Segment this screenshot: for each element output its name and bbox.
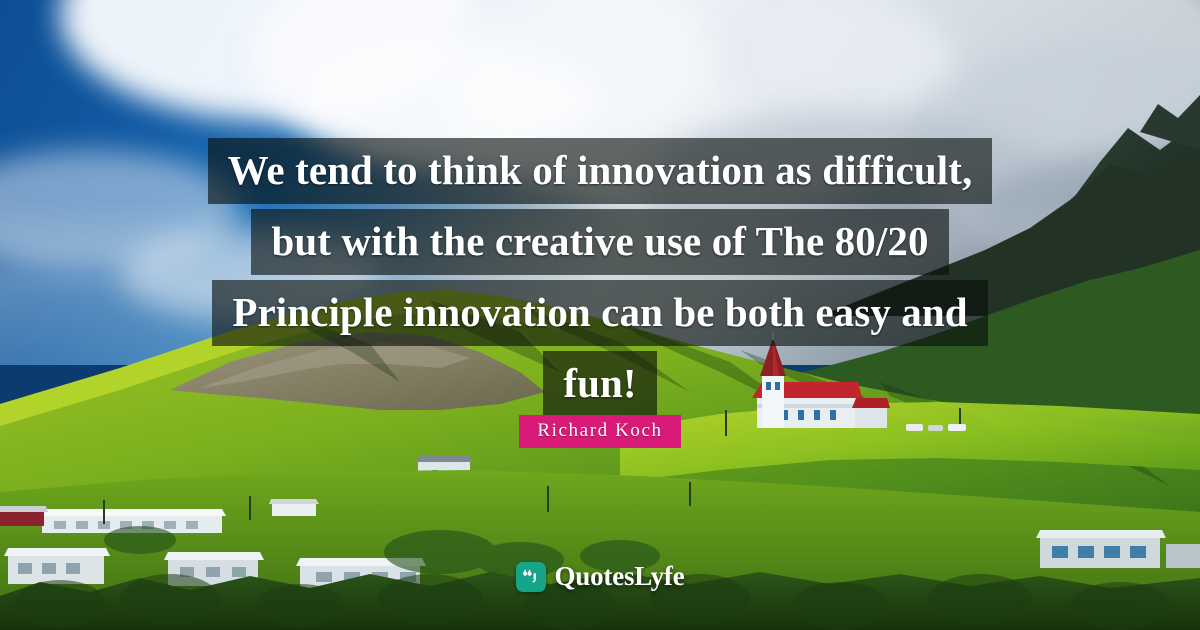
quote-text-block: We tend to think of innovation as diffic…	[0, 138, 1200, 422]
author-attribution: Richard Koch	[0, 415, 1200, 448]
brand-name: QuotesLyfe	[555, 561, 685, 592]
quote-line-2: but with the creative use of The 80/20	[251, 209, 948, 275]
quote-line-1: We tend to think of innovation as diffic…	[208, 138, 993, 204]
quote-line-3: Principle innovation can be both easy an…	[212, 280, 987, 346]
quote-marks-icon	[516, 562, 546, 592]
quote-card: We tend to think of innovation as diffic…	[0, 0, 1200, 630]
village-white-building-right	[269, 499, 319, 516]
quote-line-4: fun!	[543, 351, 656, 417]
brand-logo[interactable]: QuotesLyfe	[0, 561, 1200, 592]
village-red-building	[0, 506, 48, 526]
author-name-badge: Richard Koch	[519, 415, 680, 448]
